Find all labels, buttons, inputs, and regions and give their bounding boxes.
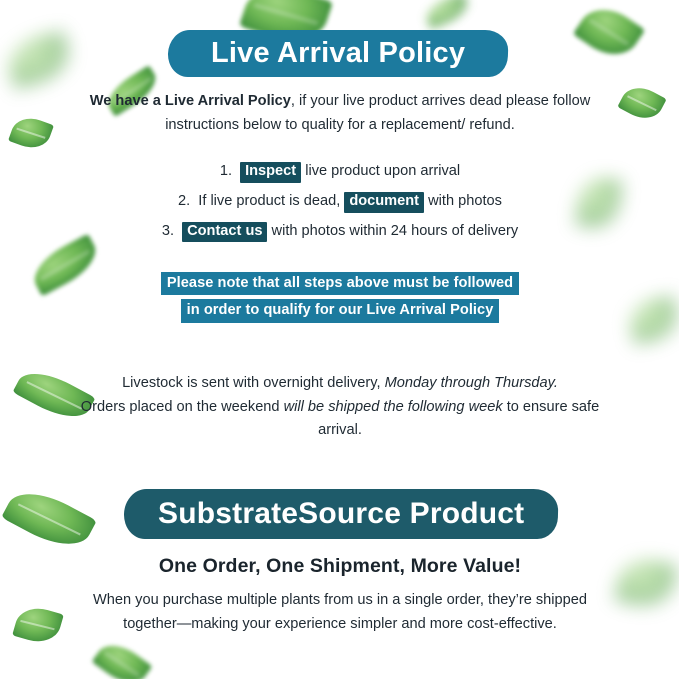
note-line: in order to qualify for our Live Arrival…	[86, 299, 594, 322]
step-text-after: live product upon arrival	[305, 163, 460, 179]
live-arrival-policy-banner-title: Live Arrival Policy	[211, 37, 465, 70]
live-arrival-policy-banner: Live Arrival Policy	[167, 30, 509, 77]
step-number: 1.	[220, 163, 232, 179]
step-highlight: Inspect	[240, 162, 301, 183]
substrate-source-banner-title: SubstrateSource Product	[158, 497, 524, 531]
shipping-line2-plain: Orders placed on the weekend	[81, 399, 284, 415]
shipping-line2-italic: will be shipped the following week	[284, 399, 503, 415]
intro-paragraph-bold: We have a Live Arrival Policy	[90, 93, 291, 109]
live-arrival-policy-infographic: Live Arrival Policy We have a Live Arriv…	[0, 0, 679, 679]
note-line-text: in order to qualify for our Live Arrival…	[181, 299, 500, 322]
step-number: 2.	[178, 193, 190, 209]
list-item: 1. Inspect live product upon arrival	[86, 162, 594, 183]
intro-paragraph: We have a Live Arrival Policy, if your l…	[72, 90, 608, 137]
policy-steps-list: 1. Inspect live product upon arrival 2. …	[86, 162, 594, 251]
shipping-schedule-paragraph: Livestock is sent with overnight deliver…	[72, 372, 608, 443]
value-proposition-paragraph: When you purchase multiple plants from u…	[72, 589, 608, 636]
policy-note-block: Please note that all steps above must be…	[86, 272, 594, 327]
list-item: 2. If live product is dead, document wit…	[86, 192, 594, 213]
substrate-source-banner: SubstrateSource Product	[123, 489, 558, 539]
value-proposition-heading: One Order, One Shipment, More Value!	[72, 555, 608, 578]
step-number: 3.	[162, 223, 174, 239]
shipping-line1-italic: Monday through Thursday.	[385, 375, 558, 391]
shipping-line1-plain: Livestock is sent with overnight deliver…	[122, 375, 385, 391]
step-text-after: with photos within 24 hours of delivery	[272, 223, 519, 239]
step-text-after: with photos	[428, 193, 502, 209]
list-item: 3. Contact us with photos within 24 hour…	[86, 222, 594, 243]
step-highlight: Contact us	[182, 222, 267, 243]
step-text-before: If live product is dead,	[198, 193, 340, 209]
note-line: Please note that all steps above must be…	[86, 272, 594, 295]
step-highlight: document	[344, 192, 424, 213]
note-line-text: Please note that all steps above must be…	[161, 272, 519, 295]
